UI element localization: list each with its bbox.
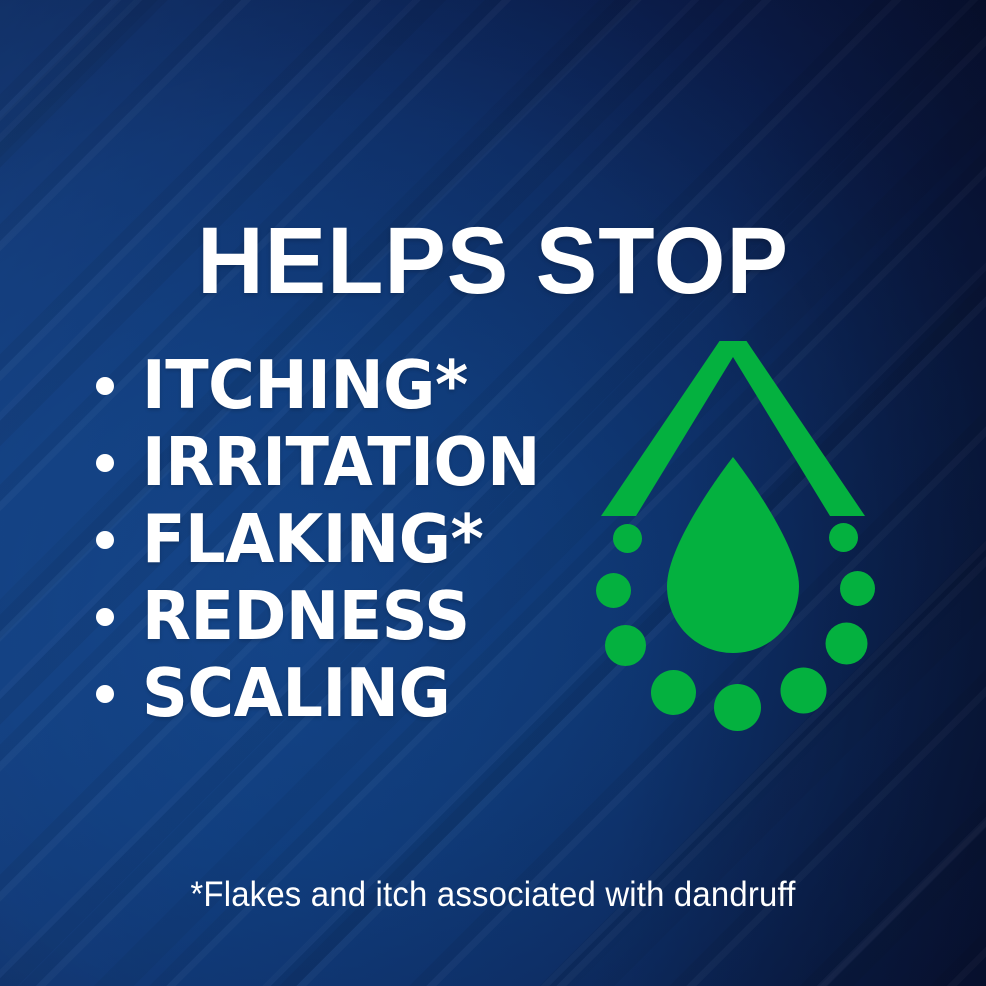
arc-dot xyxy=(613,524,642,553)
symptom-label: REDNESS xyxy=(142,583,470,650)
promo-poster: HELPS STOP ITCHING* IRRITATION FLAKING* … xyxy=(0,0,986,986)
poster-content: HELPS STOP ITCHING* IRRITATION FLAKING* … xyxy=(0,0,986,986)
bullet-dot-icon xyxy=(96,531,114,549)
bullet-dot-icon xyxy=(96,608,114,626)
footnote-disclaimer: *Flakes and itch associated with dandruf… xyxy=(30,875,957,915)
symptom-label: IRRITATION xyxy=(142,429,540,496)
arc-dot xyxy=(781,668,827,714)
list-item: SCALING xyxy=(96,655,561,732)
arc-dot xyxy=(596,573,631,608)
symptom-label: FLAKING* xyxy=(142,506,483,573)
symptom-list: ITCHING* IRRITATION FLAKING* REDNESS SCA… xyxy=(96,347,561,732)
list-item: ITCHING* xyxy=(96,347,561,424)
arc-dot xyxy=(714,684,761,731)
arc-dot xyxy=(605,625,646,666)
arc-dot xyxy=(829,523,858,552)
arc-dot xyxy=(826,623,868,665)
arc-dot xyxy=(651,670,696,715)
list-item: REDNESS xyxy=(96,578,561,655)
list-item: FLAKING* xyxy=(96,501,561,578)
bullet-dot-icon xyxy=(96,454,114,472)
droplet-chevron-logo xyxy=(580,325,910,750)
page-title: HELPS STOP xyxy=(15,214,971,309)
bullet-dot-icon xyxy=(96,377,114,395)
symptom-label: SCALING xyxy=(142,660,450,727)
list-item: IRRITATION xyxy=(96,424,561,501)
bullet-dot-icon xyxy=(96,685,114,703)
symptom-label: ITCHING* xyxy=(142,352,468,419)
arc-dot xyxy=(840,571,875,606)
water-droplet-icon xyxy=(667,457,799,653)
